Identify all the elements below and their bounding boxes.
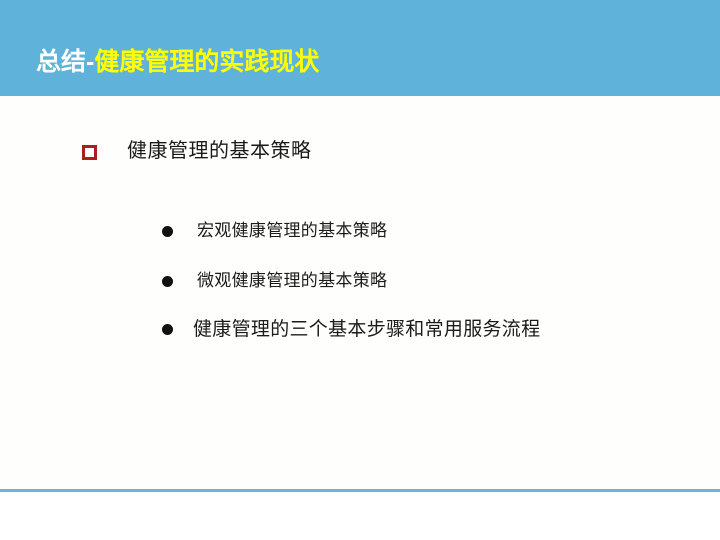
slide-footer-area [0, 492, 720, 540]
bullet-item-level2-2: 健康管理的三个基本步骤和常用服务流程 [162, 318, 540, 341]
disc-bullet-icon [162, 226, 173, 237]
square-outline-bullet-icon [82, 145, 97, 160]
bullet-level2-label-2: 健康管理的三个基本步骤和常用服务流程 [193, 318, 540, 341]
bullet-item-level2-0: 宏观健康管理的基本策略 [162, 220, 387, 243]
bullet-level2-label-1: 微观健康管理的基本策略 [197, 270, 387, 293]
slide-title: 总结-健康管理的实践现状 [36, 46, 319, 78]
slide-header-band: 总结-健康管理的实践现状 [0, 0, 720, 96]
presentation-slide: 总结-健康管理的实践现状 健康管理的基本策略 宏观健康管理的基本策略 微观健康管… [0, 0, 720, 540]
bullet-item-level2-1: 微观健康管理的基本策略 [162, 270, 387, 293]
slide-title-highlight: 健康管理的实践现状 [94, 48, 319, 76]
slide-content-area: 健康管理的基本策略 宏观健康管理的基本策略 微观健康管理的基本策略 健康管理的三… [0, 96, 720, 490]
disc-bullet-icon [162, 324, 173, 335]
bullet-item-level1: 健康管理的基本策略 [82, 138, 312, 164]
disc-bullet-icon [162, 276, 173, 287]
slide-title-prefix: 总结- [36, 48, 94, 76]
bullet-level2-label-0: 宏观健康管理的基本策略 [197, 220, 387, 243]
bullet-level1-label: 健康管理的基本策略 [127, 138, 312, 164]
